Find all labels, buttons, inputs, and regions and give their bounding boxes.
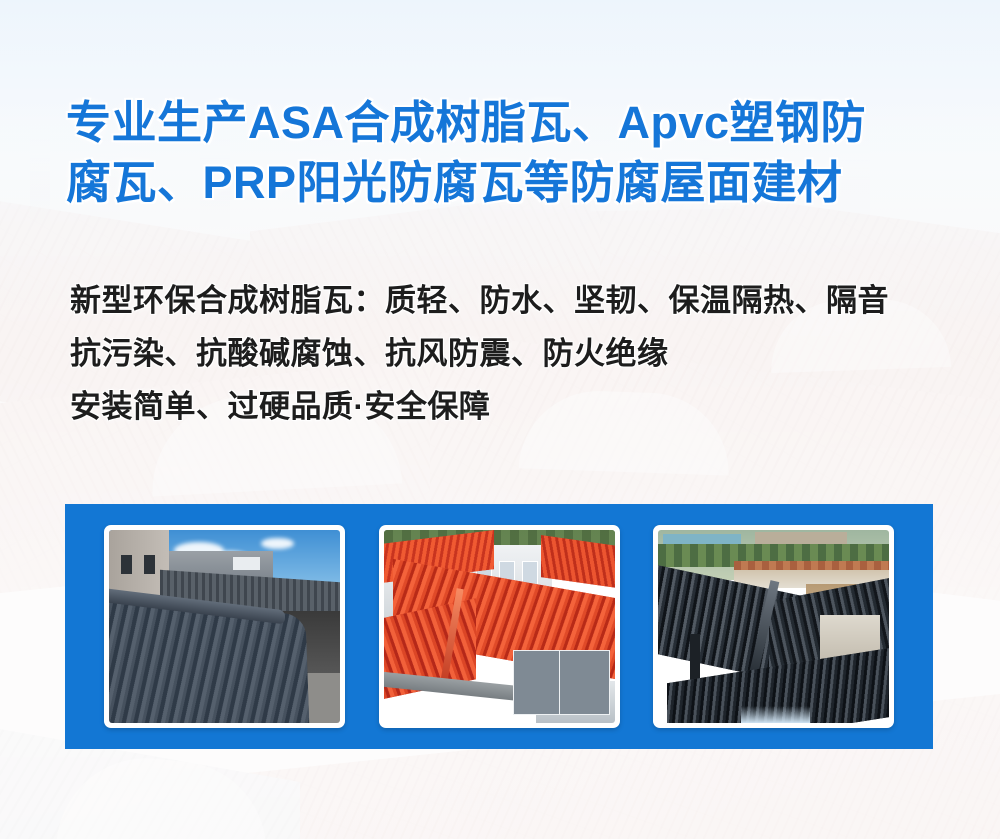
photo-window (559, 650, 610, 716)
photo-window (513, 650, 564, 716)
photo-frame-3 (653, 525, 894, 728)
headline-line-2: 腐瓦、PRP阳光防腐瓦等防腐屋面建材 (66, 153, 946, 213)
subcopy: 新型环保合成树脂瓦：质轻、防水、坚韧、保温隔热、隔音 抗污染、抗酸碱腐蚀、抗风防… (70, 274, 970, 433)
photo-dark-grey-tiled-roof (109, 530, 340, 723)
promo-banner: 专业生产ASA合成树脂瓦、Apvc塑钢防 腐瓦、PRP阳光防腐瓦等防腐屋面建材 … (0, 0, 1000, 839)
photo-cloud (261, 538, 293, 550)
photo-frame-2 (379, 525, 620, 728)
subcopy-line-3: 安装简单、过硬品质·安全保障 (70, 380, 970, 433)
photo-light-glint (741, 706, 810, 723)
photo-gallery-panel (65, 504, 933, 749)
photo-window (144, 555, 156, 574)
photo-window (121, 555, 133, 574)
photo-support-pillar (690, 634, 699, 684)
headline: 专业生产ASA合成树脂瓦、Apvc塑钢防 腐瓦、PRP阳光防腐瓦等防腐屋面建材 (66, 93, 946, 213)
photo-frame-1 (104, 525, 345, 728)
headline-line-1: 专业生产ASA合成树脂瓦、Apvc塑钢防 (66, 93, 946, 153)
subcopy-line-1: 新型环保合成树脂瓦：质轻、防水、坚韧、保温隔热、隔音 (70, 274, 970, 327)
subcopy-line-2: 抗污染、抗酸碱腐蚀、抗风防震、防火绝缘 (70, 327, 970, 380)
photo-black-corrugated-resin-roof (658, 530, 889, 723)
photo-red-resin-tile-roof (384, 530, 615, 723)
